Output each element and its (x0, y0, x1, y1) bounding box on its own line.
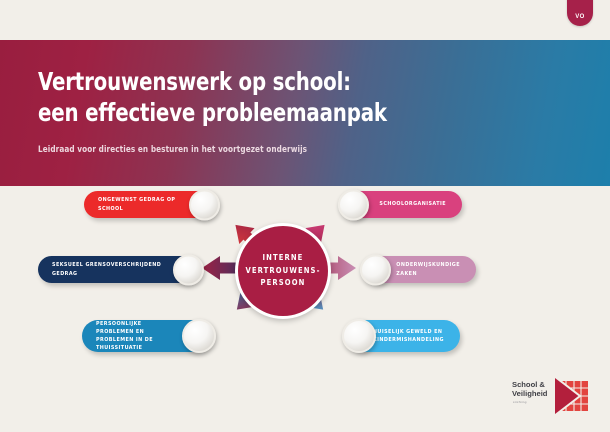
logo-line2: Veiligheid (512, 389, 547, 398)
center-node-label: INTERNE VERTROUWENS- PERSOON (245, 252, 320, 290)
node-label-line1: PERSOONLIJKE PROBLEMEN EN (96, 320, 176, 336)
node-label-line1: HUISELIJK GEWELD EN (373, 328, 444, 336)
logo-line1: School & (512, 380, 547, 389)
node-knob-icon (182, 319, 216, 353)
node-label-line2: KINDERMISHANDELING (373, 336, 444, 344)
page-title-line2: een effectieve probleemaanpak (38, 97, 541, 128)
diagram: ONGEWENST GEDRAG OP SCHOOL SEKSUEEL GREN… (0, 186, 610, 386)
node-knob-icon (173, 254, 204, 285)
header-content: Vertrouwenswerk op school: een effectiev… (0, 40, 610, 155)
page-title-line1: Vertrouwenswerk op school: (38, 67, 351, 96)
node-label-line1: SCHOOLORGANISATIE (379, 200, 446, 208)
logo-wordmark: School & Veiligheid (512, 380, 547, 399)
page-subtitle: Leidraad voor directies en besturen in h… (38, 145, 553, 155)
node-ongewenst-gedrag-op-school[interactable]: ONGEWENST GEDRAG OP SCHOOL (84, 191, 214, 218)
page-title: Vertrouwenswerk op school: een effectiev… (38, 66, 541, 129)
node-persoonlijke-problemen[interactable]: PERSOONLIJKE PROBLEMEN EN PROBLEMEN IN D… (82, 320, 210, 352)
center-node-interne-vertrouwenspersoon[interactable]: INTERNE VERTROUWENS- PERSOON (235, 223, 331, 319)
node-schoolorganisatie[interactable]: SCHOOLORGANISATIE (344, 191, 462, 218)
node-huiselijk-geweld-en-kindermishandeling[interactable]: HUISELIJK GEWELD EN KINDERMISHANDELING (348, 320, 460, 352)
node-knob-icon (360, 254, 391, 285)
slide-page: VO Vertrouwenswerk op school: een effect… (0, 0, 610, 432)
node-knob-icon (338, 189, 369, 220)
center-label-line3: PERSOON (245, 277, 320, 290)
vo-badge: VO (567, 0, 593, 26)
logo-school-en-veiligheid: School & Veiligheid stichting (510, 372, 598, 420)
logo-subtext: stichting (513, 400, 527, 404)
center-label-line1: INTERNE (245, 252, 320, 265)
node-label-line1: ONDERWIJSKUNDIGE ZAKEN (396, 261, 460, 277)
node-onderwijskundige-zaken[interactable]: ONDERWIJSKUNDIGE ZAKEN (366, 256, 476, 283)
node-label-line1: SEKSUEEL GRENSOVERSCHRIJDEND GEDRAG (52, 261, 164, 277)
node-label-line1: ONGEWENST GEDRAG OP SCHOOL (98, 196, 180, 212)
node-label-line2: PROBLEMEN IN DE THUISSITUATIE (96, 336, 176, 352)
vo-badge-label: VO (575, 14, 584, 26)
node-knob-icon (342, 319, 376, 353)
node-knob-icon (189, 189, 220, 220)
center-label-line2: VERTROUWENS- (245, 265, 320, 278)
node-seksueel-grensoverschrijdend-gedrag[interactable]: SEKSUEEL GRENSOVERSCHRIJDEND GEDRAG (38, 256, 198, 283)
header-banner: Vertrouwenswerk op school: een effectiev… (0, 40, 610, 186)
